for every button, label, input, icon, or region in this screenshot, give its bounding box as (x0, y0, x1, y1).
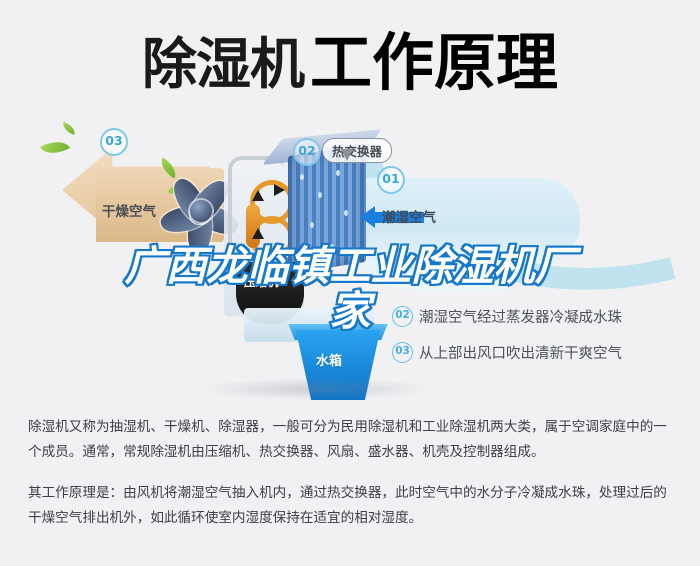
flow-arrow-right-icon (274, 184, 285, 196)
condensation-droplet-icon (336, 170, 340, 176)
heat-exchanger-label: 热交换器 (322, 138, 392, 163)
step-badge: 02 (392, 306, 413, 327)
list-item: 03 从上部出风口吹出清新干爽空气 (392, 334, 692, 370)
compressor-label: 压缩机 (244, 274, 279, 290)
condensation-droplet-icon (318, 192, 322, 198)
step-list: 02 潮湿空气经过蒸发器冷凝成水珠 03 从上部出风口吹出清新干爽空气 (392, 298, 692, 370)
dry-air-label: 干燥空气 (102, 200, 156, 220)
humid-air-inlet-arrow-head-icon (360, 206, 375, 228)
infographic-page: 除湿机工作原理 (0, 0, 700, 566)
condensation-droplet-icon (330, 244, 334, 250)
diagram-badge-02: 02 (293, 138, 321, 166)
water-tank-label: 水箱 (316, 350, 342, 369)
condensation-droplet-icon (310, 222, 314, 228)
step-text: 潮湿空气经过蒸发器冷凝成水珠 (419, 306, 622, 327)
list-item: 02 潮湿空气经过蒸发器冷凝成水珠 (392, 298, 692, 334)
leaf-icon (61, 122, 77, 135)
flow-arrow-up-icon (252, 228, 264, 239)
diagram-badge-01: 01 (377, 166, 405, 194)
condensation-droplet-icon (300, 174, 304, 180)
step-text: 从上部出风口吹出清新干爽空气 (419, 342, 622, 363)
page-title-part-b: 工作原理 (310, 29, 558, 98)
page-title-part-a: 除湿机 (142, 33, 304, 95)
copper-coil-bar (246, 204, 260, 248)
condensation-droplet-icon (344, 210, 348, 216)
ground-shadow (200, 378, 430, 400)
step-badge: 03 (392, 342, 413, 363)
fan-hub (190, 200, 212, 222)
paragraph-2: 其工作原理是：由风机将潮湿空气抽入机内，通过热交换器，此时空气中的水分子冷凝成水… (28, 480, 676, 530)
flow-arrow-up-icon (252, 190, 264, 201)
body-copy: 除湿机又称为抽湿机、干燥机、除湿器，一般可分为民用除湿机和工业除湿机两大类，属于… (28, 414, 676, 546)
humid-air-label: 潮湿空气 (382, 206, 436, 226)
diagram-badge-03: 03 (100, 128, 128, 156)
bubble-pointer-icon (341, 149, 353, 161)
paragraph-1: 除湿机又称为抽湿机、干燥机、除湿器，一般可分为民用除湿机和工业除湿机两大类，属于… (28, 414, 676, 464)
leaf-icon (40, 135, 70, 160)
